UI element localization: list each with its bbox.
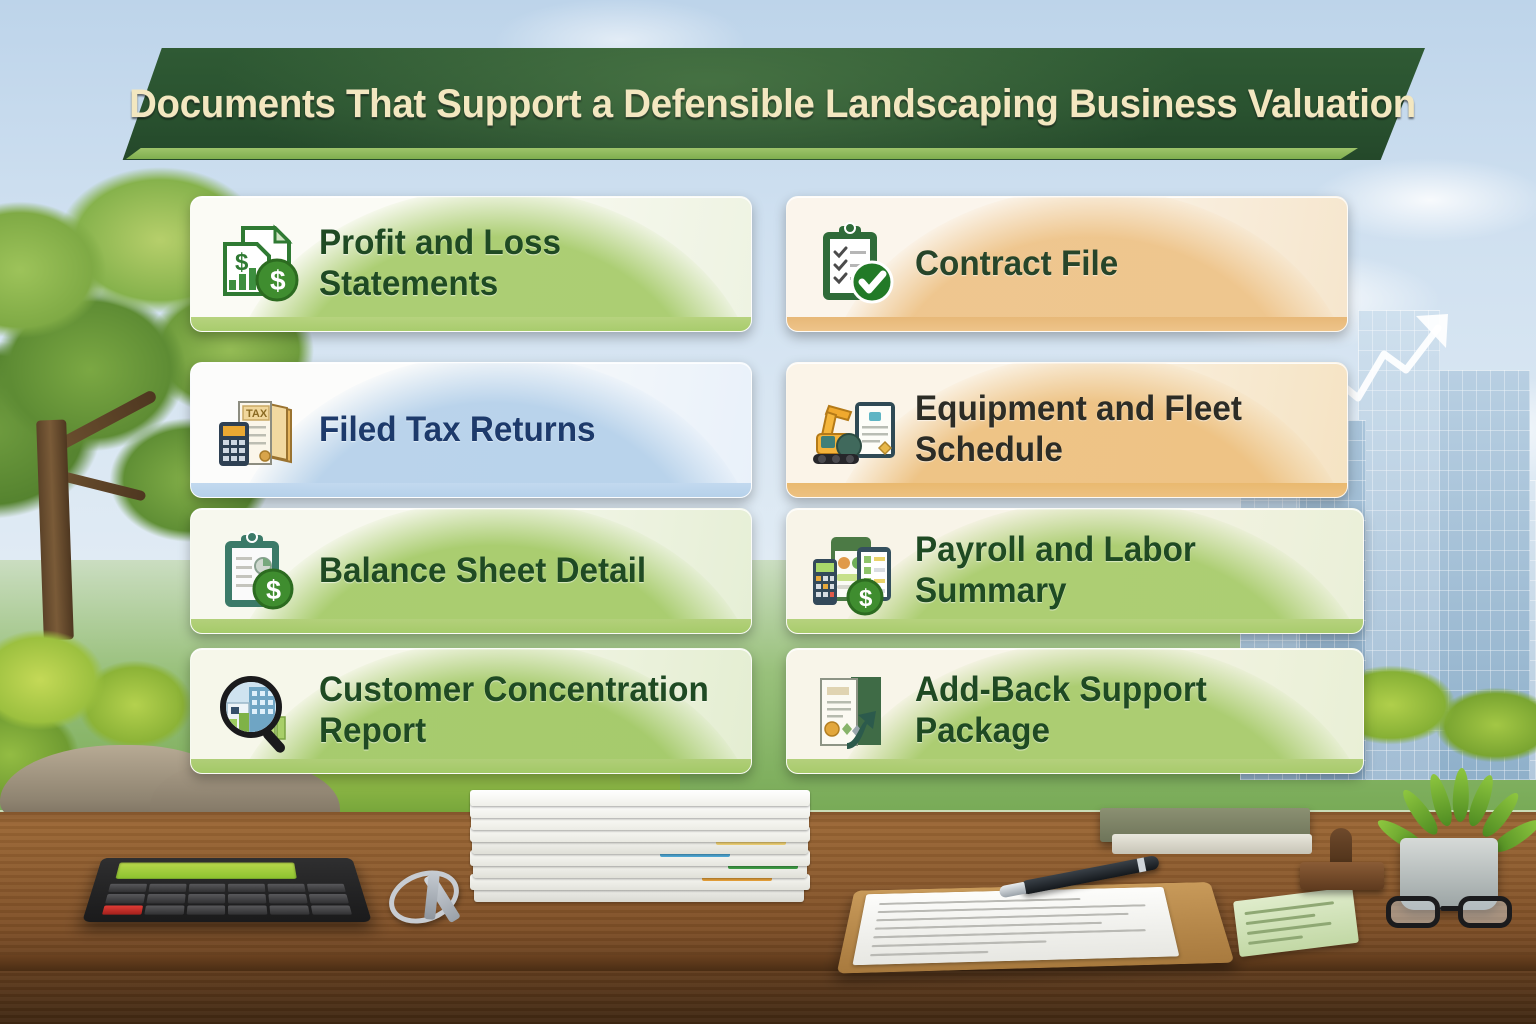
- tablet-calculator-dollar-icon: $: [809, 525, 901, 617]
- svg-text:$: $: [859, 585, 873, 612]
- card-label: Add-Back Support Package: [915, 670, 1341, 751]
- card-label: Filed Tax Returns: [319, 410, 596, 451]
- card-label: Equipment and Fleet Schedule: [915, 389, 1325, 470]
- card-profit-and-loss-statements[interactable]: $ $ Profit and Loss Statements: [190, 196, 752, 332]
- card-contract-file[interactable]: Contract File: [786, 196, 1348, 332]
- card-bottom-strip: [191, 317, 751, 331]
- calculator: [82, 858, 372, 922]
- svg-text:$: $: [266, 575, 281, 605]
- card-bottom-strip: [787, 759, 1363, 773]
- infographic-scene: Documents That Support a Defensible Land…: [0, 0, 1536, 1024]
- document-stack: [470, 790, 810, 910]
- clipboard-dollar-icon: $: [213, 525, 305, 617]
- clipboard: [837, 882, 1235, 973]
- tax-document-calculator-icon: TAX: [213, 384, 305, 476]
- card-balance-sheet-detail[interactable]: $ Balance Sheet Detail: [190, 508, 752, 634]
- svg-text:$: $: [235, 249, 249, 276]
- excavator-document-icon: [809, 384, 901, 476]
- document-bar-chart-dollar-icon: $ $: [213, 218, 305, 310]
- calculator-keys: [102, 884, 352, 915]
- card-payroll-and-labor-summary[interactable]: $ Payroll and Labor Summary: [786, 508, 1364, 634]
- eyeglass-lens: [1386, 896, 1440, 928]
- card-bottom-strip: [191, 483, 751, 497]
- magnifier-buildings-chart-icon: [213, 665, 305, 757]
- card-add-back-support-package[interactable]: Add-Back Support Package: [786, 648, 1364, 774]
- card-bottom-strip: [787, 317, 1347, 331]
- card-label: Profit and Loss Statements: [319, 223, 729, 304]
- card-filed-tax-returns[interactable]: TAX Filed Tax Returns: [190, 362, 752, 498]
- card-bottom-strip: [191, 759, 751, 773]
- card-label: Contract File: [915, 244, 1118, 285]
- desk-edge: [0, 955, 1536, 971]
- clipboard-checkmark-icon: [809, 218, 901, 310]
- svg-text:$: $: [270, 265, 286, 296]
- card-label: Customer Concentration Report: [319, 670, 729, 751]
- card-bottom-strip: [787, 619, 1363, 633]
- calculator-display: [115, 862, 296, 878]
- card-bottom-strip: [191, 619, 751, 633]
- document-up-arrow-icon: [809, 665, 901, 757]
- eyeglasses: [1386, 896, 1516, 930]
- eyeglass-lens: [1458, 896, 1512, 928]
- clipboard-document: [852, 887, 1179, 965]
- card-equipment-and-fleet-schedule[interactable]: Equipment and Fleet Schedule: [786, 362, 1348, 498]
- svg-text:TAX: TAX: [246, 408, 268, 420]
- card-customer-concentration-report[interactable]: Customer Concentration Report: [190, 648, 752, 774]
- card-label: Payroll and Labor Summary: [915, 530, 1341, 611]
- rubber-stamp-base: [1300, 862, 1384, 890]
- card-bottom-strip: [787, 483, 1347, 497]
- card-label: Balance Sheet Detail: [319, 551, 646, 592]
- book-pages: [1112, 834, 1312, 854]
